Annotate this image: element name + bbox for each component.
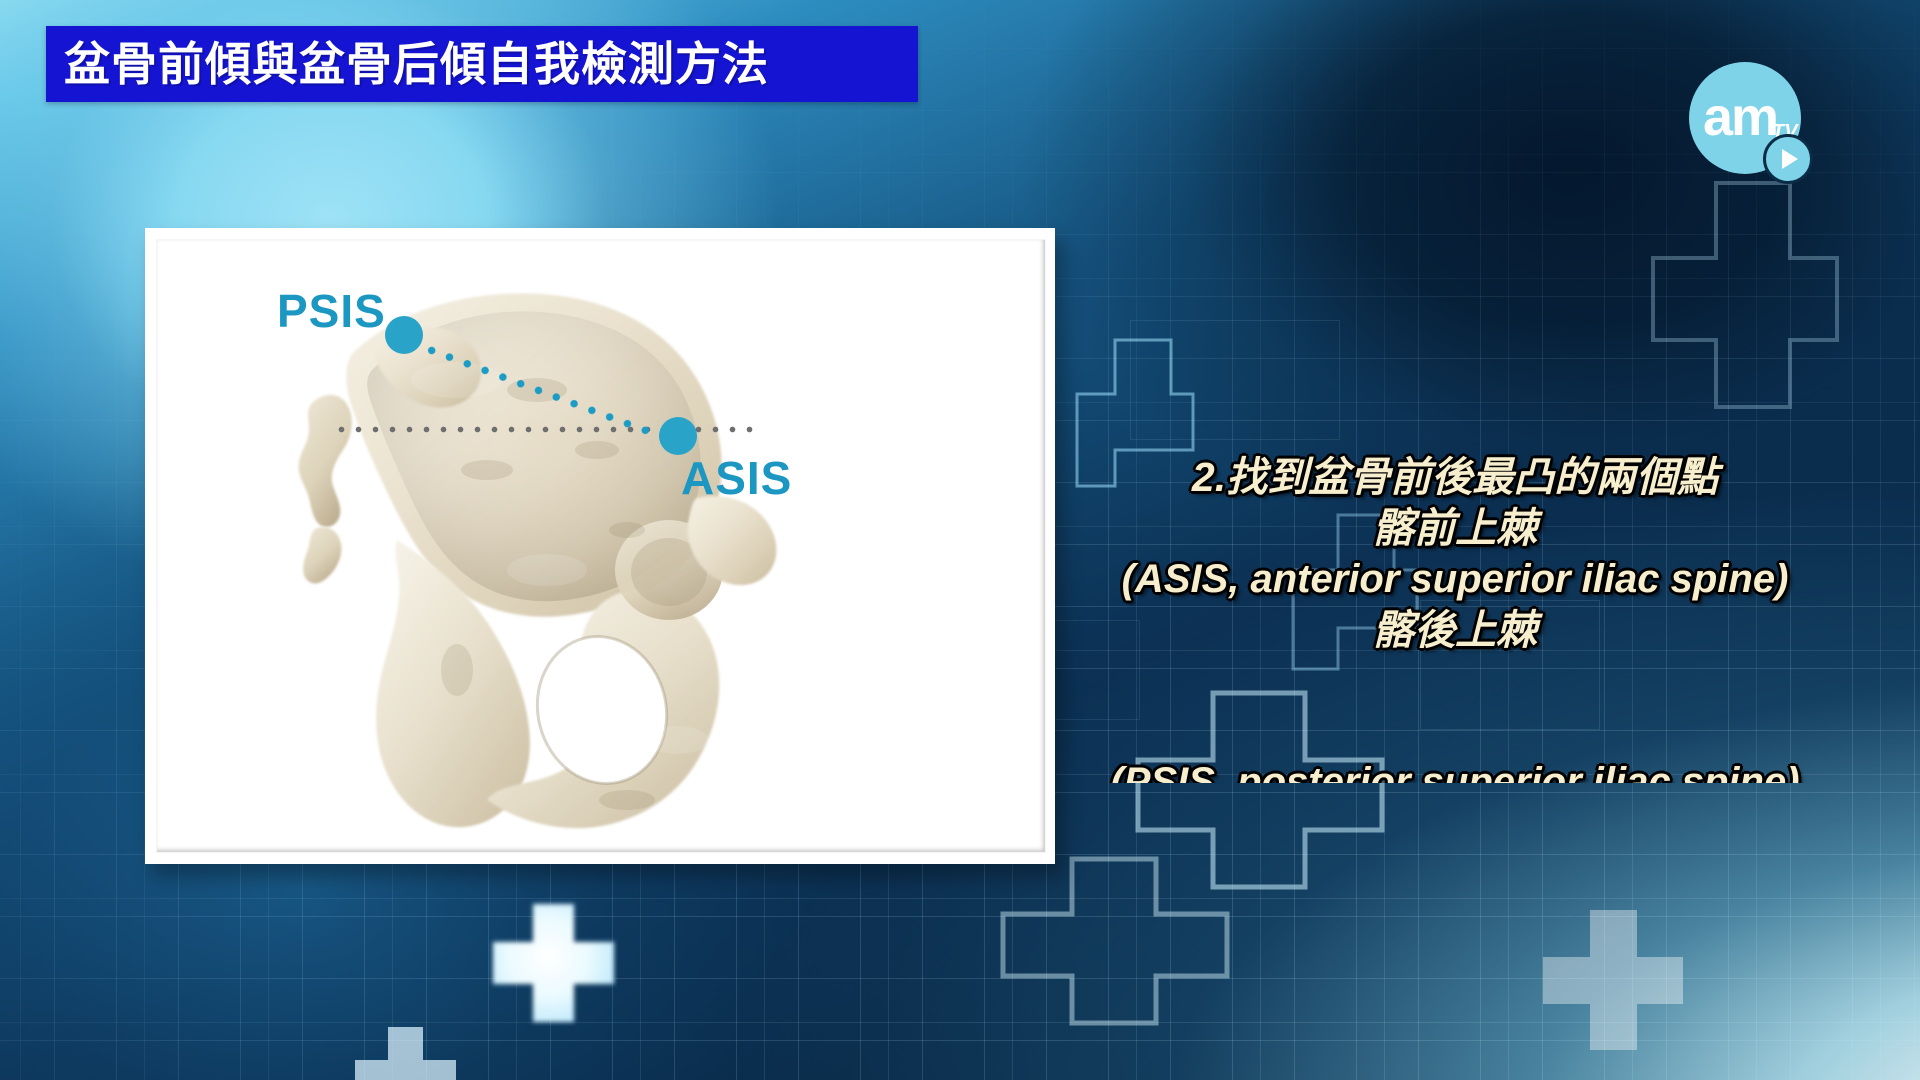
- page-title: 盆骨前傾與盆骨后傾自我檢測方法: [64, 41, 769, 87]
- psis-marker: [385, 316, 423, 354]
- asis-marker: [659, 417, 697, 455]
- slide-canvas: 盆骨前傾與盆骨后傾自我檢測方法 am TV: [0, 0, 1920, 1080]
- slide-title-bar: 盆骨前傾與盆骨后傾自我檢測方法: [46, 26, 918, 102]
- horizontal-reference-line: [333, 425, 763, 434]
- subtitle-line: 2.找到盆骨前後最凸的兩個點: [1005, 452, 1905, 503]
- play-triangle-icon: [1782, 149, 1798, 169]
- cross-glow-icon: [350, 1022, 460, 1080]
- cross-glow-icon: [1538, 905, 1688, 1055]
- subtitle-line: 髂後上棘: [1005, 605, 1905, 656]
- subtitle-block: 2.找到盆骨前後最凸的兩個點 髂前上棘 (ASIS, anterior supe…: [1005, 452, 1905, 656]
- pelvis-illustration: PSIS ASIS: [157, 240, 1045, 852]
- cross-outline-icon: [1000, 856, 1230, 1026]
- logo-wordmark: am: [1703, 90, 1777, 144]
- cross-glow-icon: [488, 898, 618, 1026]
- image-card-inner: PSIS ASIS: [157, 240, 1045, 852]
- subtitle-clipped-line-wrapper: (PSIS, posterior superior iliac spine): [1005, 757, 1905, 783]
- psis-label: PSIS: [277, 288, 386, 334]
- subtitle-line-clipped: (PSIS, posterior superior iliac spine): [1005, 757, 1905, 783]
- subtitle-line: 髂前上棘: [1005, 503, 1905, 554]
- subtitle-line: (ASIS, anterior superior iliac spine): [1005, 554, 1905, 605]
- play-button-icon[interactable]: [1763, 134, 1813, 184]
- background-bar: [1130, 320, 1340, 440]
- image-card: PSIS ASIS: [145, 228, 1055, 864]
- cross-outline-icon: [1650, 180, 1840, 410]
- am-tv-logo[interactable]: am TV: [1689, 62, 1813, 186]
- asis-label: ASIS: [681, 455, 792, 501]
